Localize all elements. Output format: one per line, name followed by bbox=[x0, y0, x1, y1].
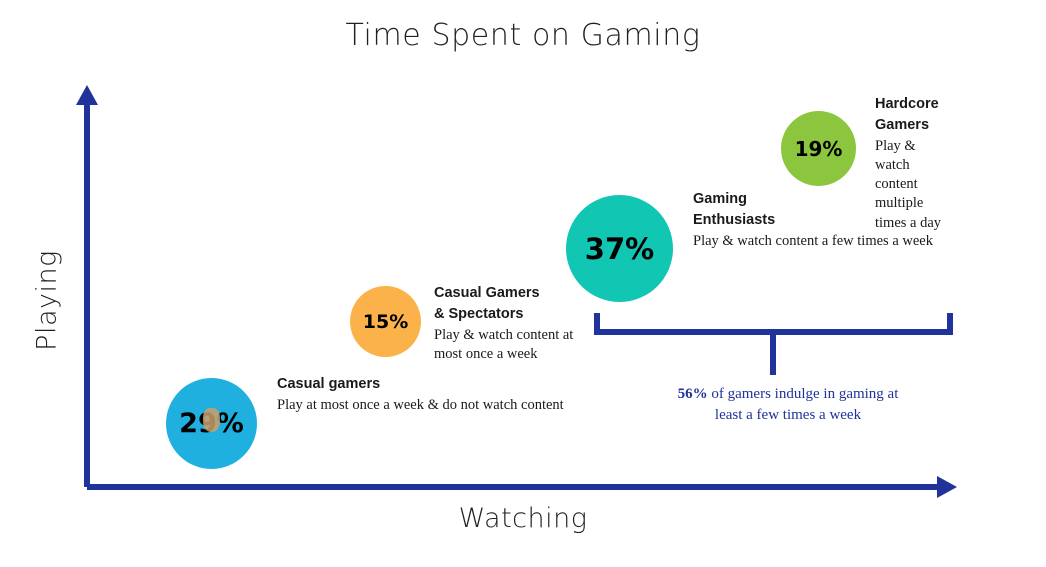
x-axis-label: Watching bbox=[0, 503, 1046, 534]
callout-heading-line2-enthusiasts: Enthusiasts bbox=[693, 210, 821, 231]
callout-heading-line2-spectators: & Spectators bbox=[434, 304, 574, 325]
bubble-casual-gamers-spectators[interactable]: 15% bbox=[350, 286, 421, 357]
callout-heading-line1-enthusiasts: Gaming bbox=[693, 189, 821, 210]
callout-description-casual-gamers: Play at most once a week & do not watch … bbox=[277, 396, 457, 415]
callout-description-enthusiasts: Play & watch content a few times a week bbox=[693, 232, 821, 251]
callout-casual-gamers-spectators: Casual Gamers & Spectators Play & watch … bbox=[434, 283, 574, 364]
callout-casual-gamers: Casual gamers Play at most once a week &… bbox=[277, 374, 457, 415]
callout-heading-casual-gamers: Casual gamers bbox=[277, 374, 457, 395]
bubble-value-casual-gamers-spectators: 15% bbox=[363, 311, 408, 333]
bracket-caption-highlight: 56% bbox=[678, 386, 708, 402]
callout-hardcore-gamers: Hardcore Gamers Play & watch content mul… bbox=[875, 94, 947, 233]
y-axis-label: Playing bbox=[32, 221, 63, 381]
bracket-annotation-icon bbox=[585, 303, 965, 388]
page-title: Time Spent on Gaming bbox=[0, 18, 1046, 53]
bubble-value-hardcore-gamers: 19% bbox=[795, 137, 843, 161]
callout-description-spectators: Play & watch content at most once a week bbox=[434, 326, 574, 364]
bracket-caption-text: of gamers indulge in gaming at least a f… bbox=[708, 386, 899, 423]
bubble-value-gaming-enthusiasts: 37% bbox=[585, 232, 654, 266]
infographic-canvas: Time Spent on Gaming Watching Playing 29… bbox=[0, 0, 1046, 567]
bracket-caption: 56% of gamers indulge in gaming at least… bbox=[668, 384, 908, 427]
callout-heading-line2-hardcore: Gamers bbox=[875, 115, 947, 136]
bubble-hardcore-gamers[interactable]: 19% bbox=[781, 111, 856, 186]
callout-description-hardcore: Play & watch content multiple times a da… bbox=[875, 137, 947, 233]
callout-heading-line1-hardcore: Hardcore bbox=[875, 94, 947, 115]
callout-heading-line1-spectators: Casual Gamers bbox=[434, 283, 574, 304]
bubble-gaming-enthusiasts[interactable]: 37% bbox=[566, 195, 673, 302]
overlap-artifact bbox=[203, 408, 220, 432]
callout-gaming-enthusiasts: Gaming Enthusiasts Play & watch content … bbox=[693, 189, 821, 251]
y-axis-arrowhead bbox=[76, 85, 98, 105]
x-axis-arrowhead bbox=[937, 476, 957, 498]
